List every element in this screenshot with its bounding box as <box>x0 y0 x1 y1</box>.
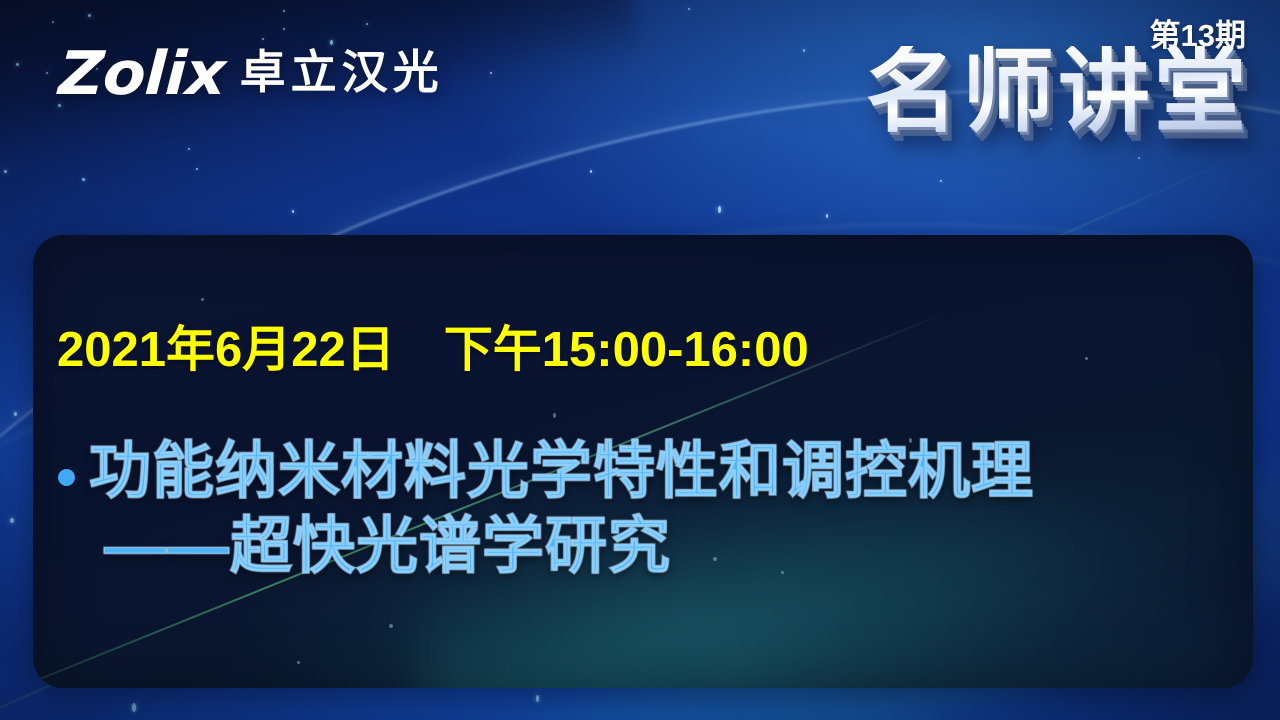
topic-title-line-1: 功能纳米材料光学特性和调控机理 <box>89 437 1034 508</box>
panel-star-particle <box>553 413 556 418</box>
topic-row-primary: 功能纳米材料光学特性和调控机理 <box>58 437 1218 508</box>
panel-star-particle <box>389 624 393 628</box>
series-title: 名师讲堂 <box>866 46 1250 138</box>
bullet-dot-icon <box>58 469 75 486</box>
logo-chinese-name: 卓立汉光 <box>240 49 444 99</box>
schedule-text: 2021年6月22日 下午15:00-16:00 <box>57 310 809 381</box>
panel-star-particle <box>297 661 300 664</box>
logo-wordmark: Zolix <box>57 44 226 104</box>
topic-block: 功能纳米材料光学特性和调控机理 ——超快光谱学研究 <box>58 437 1218 582</box>
panel-star-particle <box>201 298 204 301</box>
webinar-poster: Zolix 卓立汉光 第13期 名师讲堂 2021年6月22日 下午15:00-… <box>0 0 1280 720</box>
zolix-logo[interactable]: Zolix 卓立汉光 <box>62 44 444 104</box>
panel-star-particle <box>1085 357 1088 360</box>
topic-title-line-2: ——超快光谱学研究 <box>104 512 1218 583</box>
